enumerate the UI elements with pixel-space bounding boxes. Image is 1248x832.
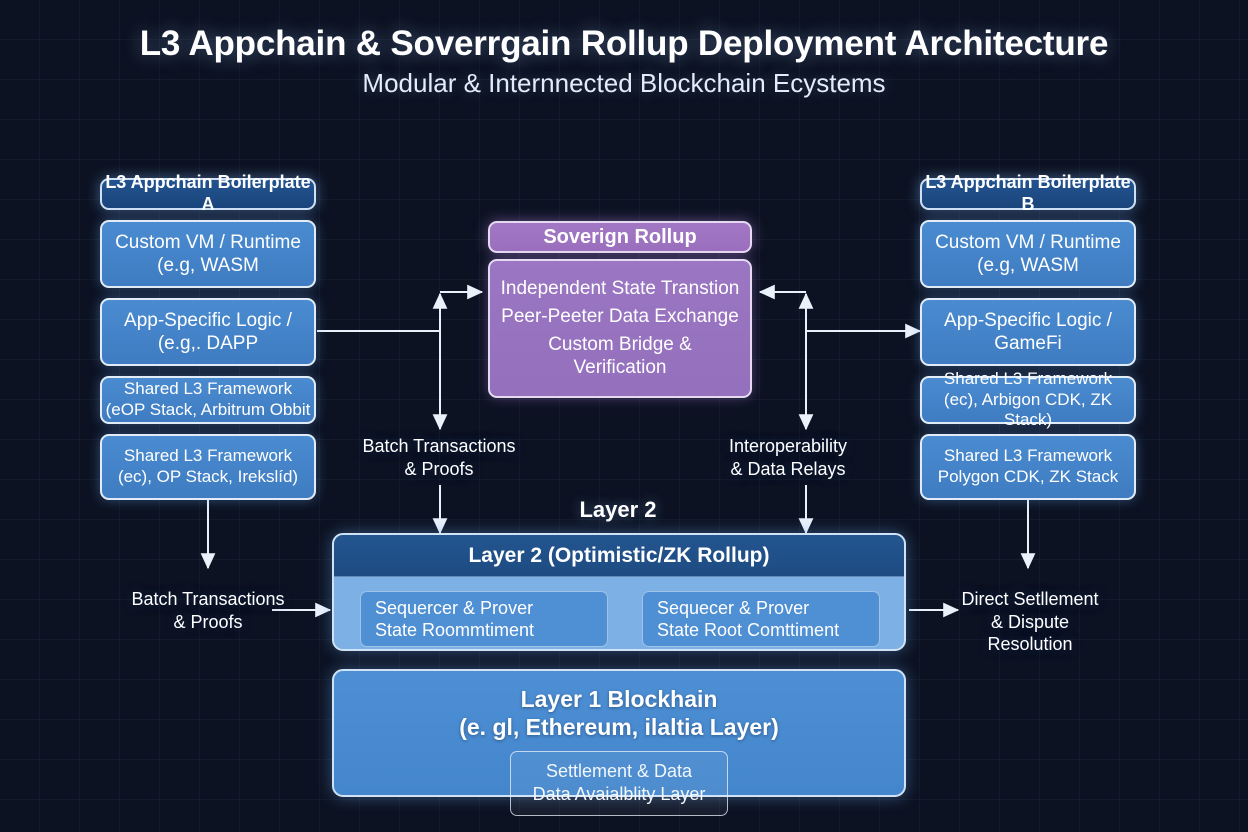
right-column-header[interactable]: L3 Appchain Boilerplate B [920, 178, 1136, 210]
layer1-sub-label: Settlement & Data Data Avaialblity Layer [510, 751, 729, 816]
layer1-title: Layer 1 Blockhain (e. gl, Ethereum, ilal… [459, 685, 779, 741]
left-box-app-specific-logic[interactable]: App-Specific Logic / (e.g,. DAPP [100, 298, 316, 366]
page-title: L3 Appchain & Soverrgain Rollup Deployme… [0, 24, 1248, 64]
right-box-shared-framework-2[interactable]: Shared L3 Framework Polygon CDK, ZK Stac… [920, 434, 1136, 500]
layer1-container[interactable]: Layer 1 Blockhain (e. gl, Ethereum, ilal… [332, 669, 906, 797]
page-subtitle: Modular & Internnected Blockchain Ecyste… [0, 68, 1248, 99]
layer2-inner-box-right[interactable]: Sequecer & Prover State Root Comttiment [642, 591, 880, 647]
sovereign-line-2: Peer-Peeter Data Exchange [500, 305, 740, 328]
sovereign-rollup-body[interactable]: Independent State Transtion Peer-Peeter … [488, 259, 752, 398]
layer2-floating-label: Layer 2 [528, 497, 708, 523]
sovereign-rollup-header[interactable]: Soverign Rollup [488, 221, 752, 253]
layer2-inner-box-left[interactable]: Sequercer & Prover State Roommtiment [360, 591, 608, 647]
left-box-shared-framework-1[interactable]: Shared L3 Framework (eOP Stack, Arbitrum… [100, 376, 316, 424]
edge-label-batch-transactions-left: Batch Transactions & Proofs [118, 588, 298, 633]
right-box-app-specific-logic[interactable]: App-Specific Logic / GameFi [920, 298, 1136, 366]
layer2-container[interactable]: Layer 2 (Optimistic/ZK Rollup) Sequercer… [332, 533, 906, 651]
right-box-shared-framework-1[interactable]: Shared L3 Framework (ec), Arbigon CDK, Z… [920, 376, 1136, 424]
edge-label-interoperability: Interoperability & Data Relays [698, 435, 878, 480]
diagram-canvas: L3 Appchain & Soverrgain Rollup Deployme… [0, 0, 1248, 832]
left-box-shared-framework-2[interactable]: Shared L3 Framework (ec), OP Stack, Irek… [100, 434, 316, 500]
left-box-custom-vm[interactable]: Custom VM / Runtime (e.g, WASM [100, 220, 316, 288]
sovereign-line-1: Independent State Transtion [500, 277, 740, 300]
edge-label-batch-transactions-center: Batch Transactions & Proofs [349, 435, 529, 480]
left-column-header[interactable]: L3 Appchain Boilerplate A [100, 178, 316, 210]
edge-label-direct-settlement: Direct Setllement & Dispute Resolution [950, 588, 1110, 656]
sovereign-line-3: Custom Bridge & Verification [500, 333, 740, 379]
right-box-custom-vm[interactable]: Custom VM / Runtime (e.g, WASM [920, 220, 1136, 288]
layer2-header: Layer 2 (Optimistic/ZK Rollup) [334, 535, 904, 577]
layer2-body: Sequercer & Prover State Roommtiment Seq… [334, 577, 904, 649]
